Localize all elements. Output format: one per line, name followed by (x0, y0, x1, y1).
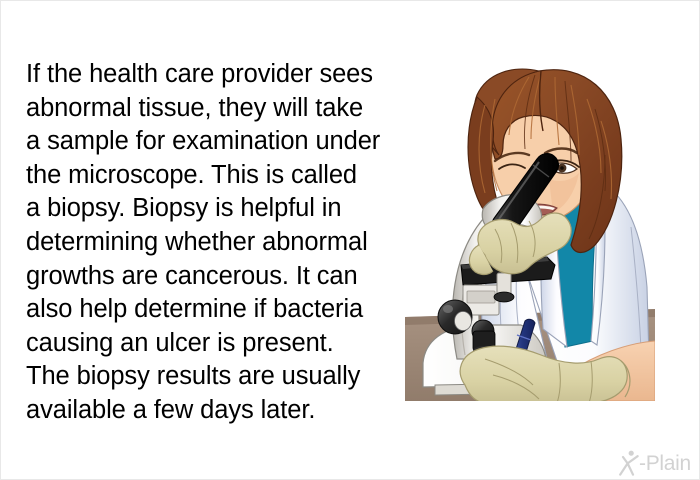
text-line: available a few days later. (26, 394, 416, 428)
text-line: If the health care provider sees (26, 58, 416, 92)
x-plain-wordmark: -Plain (639, 453, 691, 474)
microscope-illustration (399, 59, 655, 401)
text-line: determining whether abnormal (26, 226, 416, 260)
text-line: abnormal tissue, they will take (26, 92, 416, 126)
text-line: a sample for examination under (26, 125, 416, 159)
x-plain-person-icon (619, 450, 640, 476)
body-text-block: If the health care provider sees abnorma… (26, 58, 416, 428)
text-line: the microscope. This is called (26, 159, 416, 193)
text-line: The biopsy results are usually (26, 360, 416, 394)
text-line: also help determine if bacteria (26, 293, 416, 327)
text-line: growths are cancerous. It can (26, 260, 416, 294)
x-plain-logo: -Plain (619, 444, 695, 476)
slide-canvas: If the health care provider sees abnorma… (0, 0, 700, 480)
text-line: causing an ulcer is present. (26, 327, 416, 361)
text-line: a biopsy. Biopsy is helpful in (26, 192, 416, 226)
